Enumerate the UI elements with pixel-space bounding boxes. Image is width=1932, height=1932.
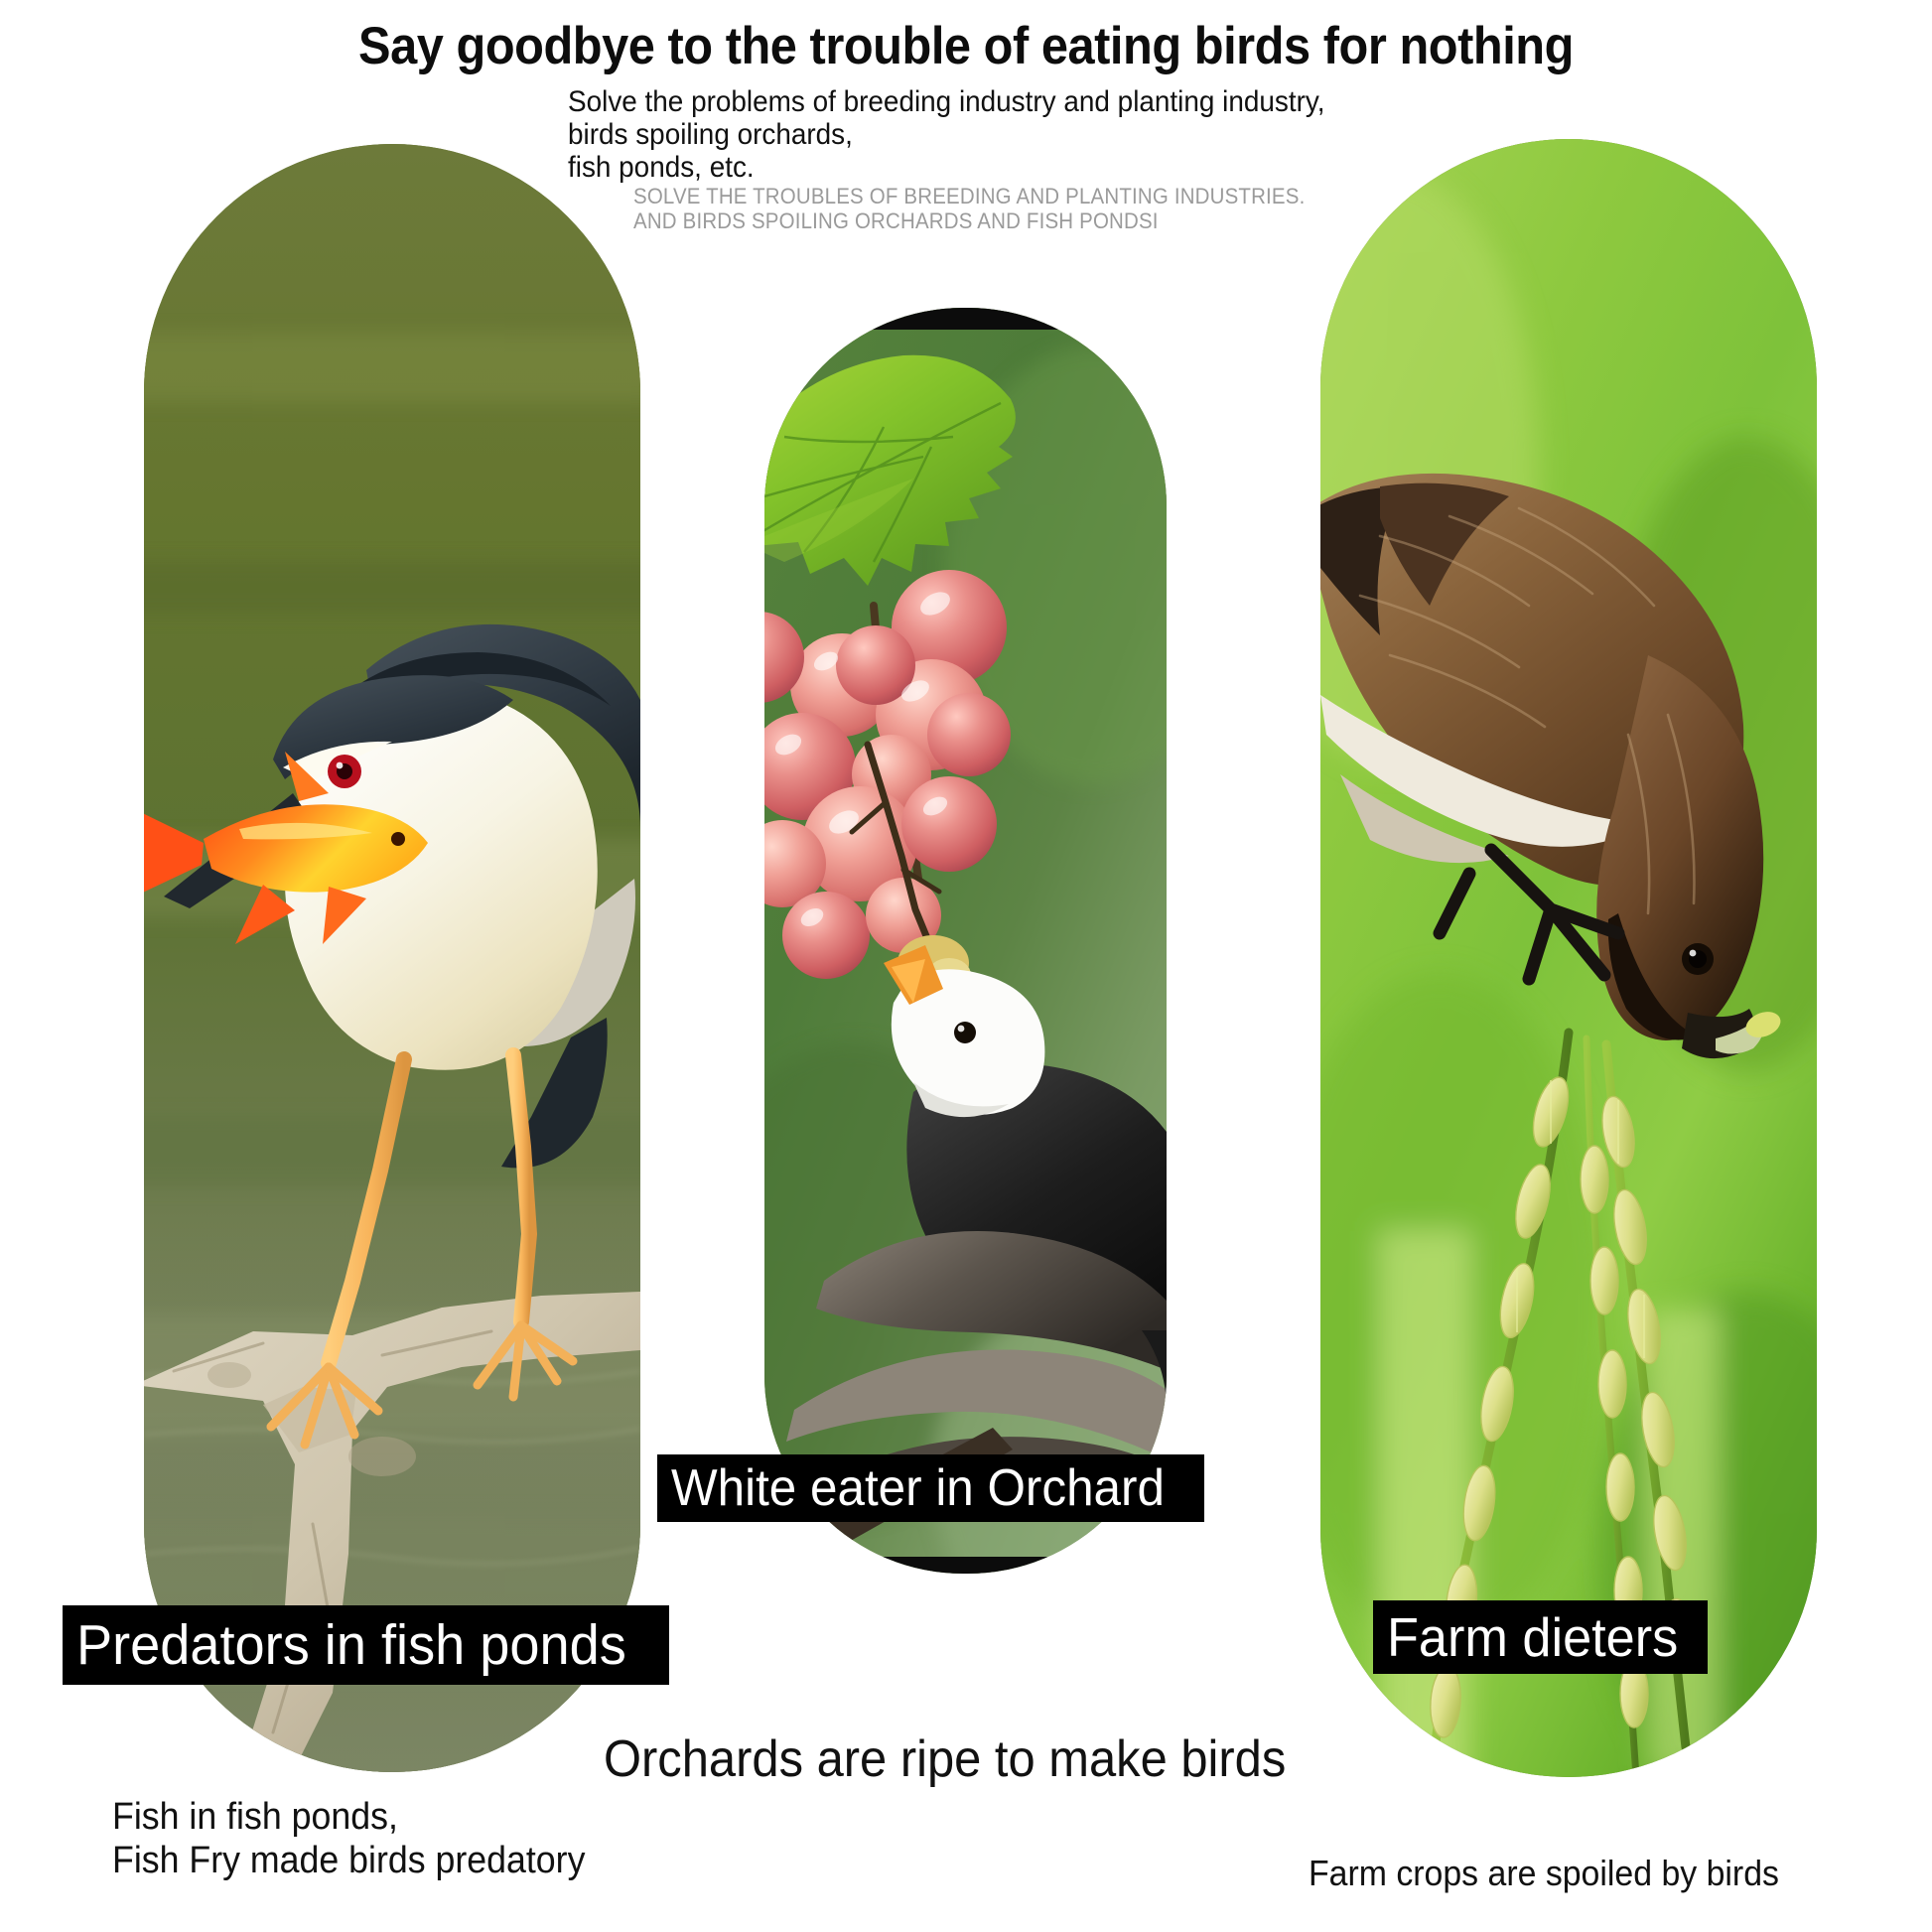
badge-farm-dieters: Farm dieters <box>1373 1600 1708 1674</box>
farm-illustration <box>1320 139 1817 1777</box>
subtitle-caps-line-2: AND BIRDS SPOILING ORCHARDS AND FISH PON… <box>633 208 1305 233</box>
subtitle-line-1: Solve the problems of breeding industry … <box>568 85 1325 118</box>
caption-orchard: Orchards are ripe to make birds <box>604 1729 1286 1789</box>
caption-fish-pond-line-2: Fish Fry made birds predatory <box>112 1839 585 1882</box>
subtitle-caps-block: SOLVE THE TROUBLES OF BREEDING AND PLANT… <box>633 184 1305 233</box>
caption-fish-pond: Fish in fish ponds, Fish Fry made birds … <box>112 1795 585 1882</box>
photo-fish-pond <box>144 144 640 1772</box>
fish-pond-illustration <box>144 144 640 1772</box>
badge-predators-in-fish-ponds: Predators in fish ponds <box>63 1605 669 1685</box>
badge-1-label: Predators in fish ponds <box>76 1612 626 1678</box>
page-title: Say goodbye to the trouble of eating bir… <box>77 16 1855 76</box>
subtitle-line-3: fish ponds, etc. <box>568 151 1325 184</box>
caption-farm: Farm crops are spoiled by birds <box>1309 1853 1779 1894</box>
subtitle-block: Solve the problems of breeding industry … <box>568 85 1325 184</box>
badge-2-label: White eater in Orchard <box>671 1458 1165 1518</box>
photo-orchard <box>764 308 1167 1574</box>
orchard-illustration <box>764 308 1167 1574</box>
photo-farm <box>1320 139 1817 1777</box>
subtitle-line-2: birds spoiling orchards, <box>568 118 1325 151</box>
badge-3-label: Farm dieters <box>1387 1605 1678 1669</box>
subtitle-caps-line-1: SOLVE THE TROUBLES OF BREEDING AND PLANT… <box>633 184 1305 208</box>
badge-white-eater-in-orchard: White eater in Orchard <box>657 1454 1204 1522</box>
caption-fish-pond-line-1: Fish in fish ponds, <box>112 1795 585 1839</box>
